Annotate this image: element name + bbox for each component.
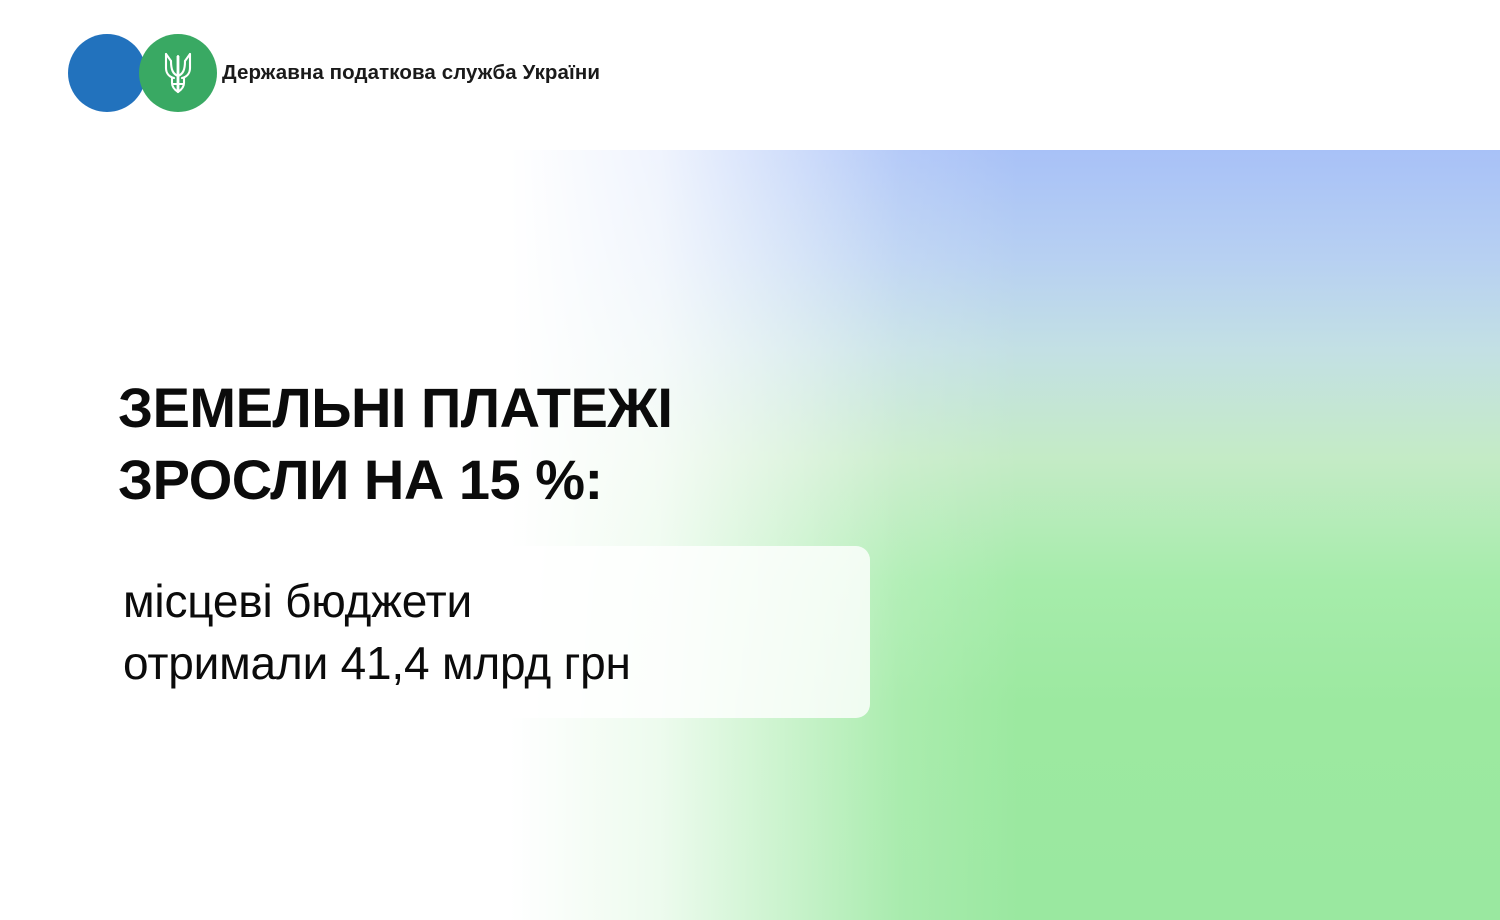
poster: Державна податкова служба України ЗЕМЕЛЬ… [0, 0, 1500, 920]
organization-name: Державна податкова служба України [222, 59, 600, 86]
subtitle-text: місцеві бюджети отримали 41,4 млрд грн [95, 570, 659, 694]
ukrainian-trident-icon [160, 48, 196, 98]
subtitle-panel: місцеві бюджети отримали 41,4 млрд грн [95, 546, 870, 718]
header-bar: Державна податкова служба України [0, 0, 1500, 150]
logo-marks [68, 34, 208, 112]
blue-circle-icon [68, 34, 146, 112]
content-area: ЗЕМЕЛЬНІ ПЛАТЕЖІ ЗРОСЛИ НА 15 %: місцеві… [0, 150, 1500, 920]
organization-logo: Державна податкова служба України [68, 34, 600, 112]
page-title: ЗЕМЕЛЬНІ ПЛАТЕЖІ ЗРОСЛИ НА 15 %: [118, 372, 672, 516]
